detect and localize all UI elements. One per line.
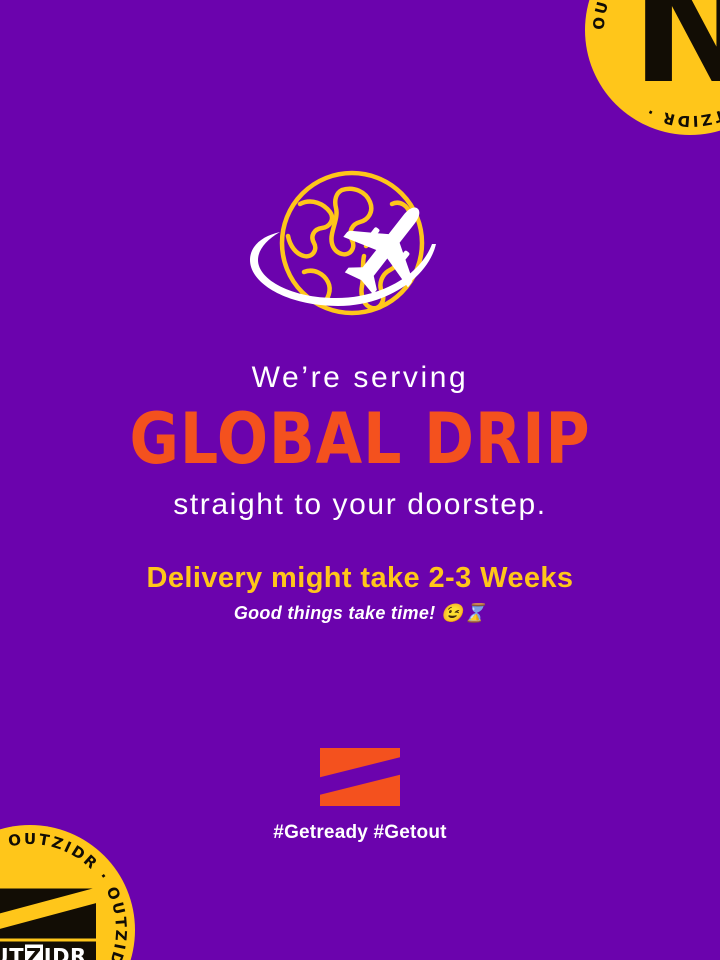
tagline-text: Good things take time! 😉⌛ [0,604,720,624]
badge-core: OUTZIDR [0,889,96,960]
promo-poster: OUTZIDR · OUTZIDR · OUTZIDR · OUTZIDR · … [0,0,720,960]
copy-block: We’re serving GLOBAL DRIP straight to yo… [0,362,720,624]
badge-wordmark-before: OUT [0,945,24,960]
badge-z-mark-icon [0,889,96,939]
hashtags-text: #Getready #Getout [0,822,720,844]
globe-airplane-illustration [0,160,720,360]
badge-z-slash [0,889,96,939]
eyebrow-text: We’re serving [0,362,720,394]
badge-wordmark: OUTZIDR [0,942,96,960]
badge-wordmark-z: Z [25,945,43,960]
brand-badge-top-right: OUTZIDR · OUTZIDR · OUTZIDR · OUTZIDR · … [585,0,720,135]
headline-text: GLOBAL DRIP [50,404,669,474]
subhead-text: straight to your doorstep. [0,488,720,521]
globe-icon [282,173,422,313]
brand-logo-z-icon [320,748,400,806]
footer-block: #Getready #Getout [0,748,720,844]
badge-big-letter: N [631,0,720,105]
illustration-svg [240,160,480,345]
logo-z-slash [320,754,400,798]
badge-wordmark-after: IDR [44,945,87,960]
delivery-notice-text: Delivery might take 2-3 Weeks [0,563,720,595]
brand-badge-bottom-left: OUTZIDR · OUTZIDR · OUTZIDR · OUTZIDR · … [0,825,135,960]
